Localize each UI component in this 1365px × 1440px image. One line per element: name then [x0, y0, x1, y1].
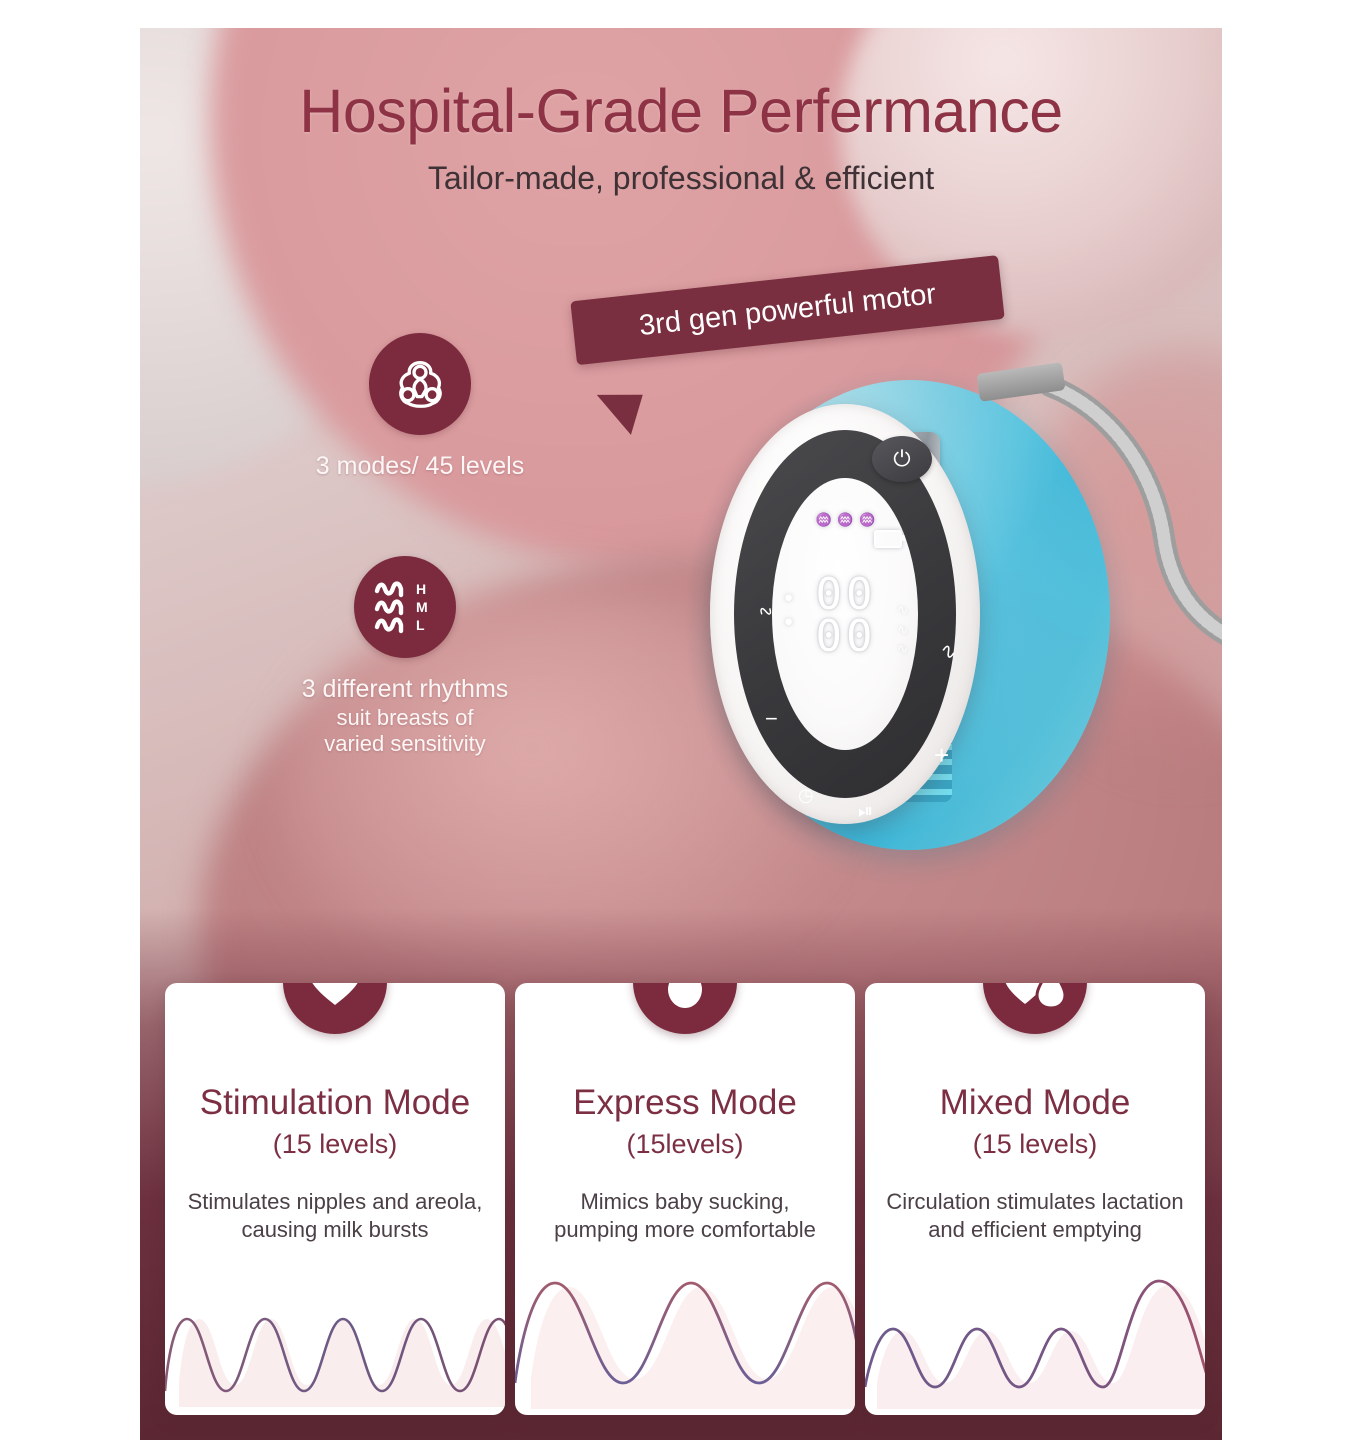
level-h-label: H	[416, 581, 426, 597]
mode-right-button[interactable]: ∿	[937, 640, 960, 665]
power-button[interactable]: ⏻	[872, 436, 932, 482]
card-levels: (15 levels)	[165, 1129, 505, 1160]
droplet-icon	[664, 983, 706, 1010]
lcd-top-indicators: ♒ ♒ ♒	[788, 512, 904, 528]
card-levels: (15 levels)	[865, 1129, 1205, 1160]
heart-icon	[307, 983, 363, 1008]
level-l-label: L	[416, 617, 425, 633]
device-cable	[958, 368, 1222, 688]
droplet-badge	[633, 983, 737, 1034]
heart-badge	[283, 983, 387, 1034]
heart-droplet-icon	[1002, 983, 1068, 1010]
lcd-screen: ♒ ♒ ♒ ●● 00 00 ∿∿∿ momcozy	[772, 478, 918, 750]
battery-icon	[874, 530, 902, 548]
mode-cards: Stimulation Mode (15 levels) Stimulates …	[165, 983, 1205, 1415]
waveform-slow-large	[515, 1265, 855, 1415]
brand-label: momcozy	[772, 746, 918, 750]
mode-card-express[interactable]: Express Mode (15levels) Mimics baby suck…	[515, 983, 855, 1415]
mode-card-mixed[interactable]: Mixed Mode (15 levels) Circulation stimu…	[865, 983, 1205, 1415]
rhythm-levels-icon: H M L	[369, 575, 441, 639]
mode-card-stimulation[interactable]: Stimulation Mode (15 levels) Stimulates …	[165, 983, 505, 1415]
waveform-mixed	[865, 1265, 1205, 1415]
feature-three-rhythms: H M L 3 different rhythms suit breasts o…	[260, 556, 550, 757]
header: Hospital-Grade Perfermance Tailor-made, …	[140, 28, 1222, 197]
feature-sub-line-2: varied sensitivity	[260, 731, 550, 757]
play-pause-button[interactable]: ⏯	[858, 802, 873, 821]
product-feature-poster: Hospital-Grade Perfermance Tailor-made, …	[140, 28, 1222, 1440]
feature-label: 3 modes/ 45 levels	[275, 452, 565, 482]
lcd-drop-indicators: ●●	[784, 586, 793, 634]
card-description: Circulation stimulates lactation and eff…	[883, 1188, 1187, 1244]
control-ring: ⏻ ∿ ∿ − + ◷ ⏯ ♒ ♒ ♒ ●● 00 00 ∿∿∿ momcozy	[734, 430, 956, 798]
rhythm-levels-badge: H M L	[354, 556, 456, 658]
card-desc-line-2: causing milk bursts	[241, 1217, 428, 1242]
feature-three-modes: 3 modes/ 45 levels	[275, 333, 565, 482]
lcd-wave-indicators: ∿∿∿	[897, 600, 908, 659]
card-title: Stimulation Mode	[165, 1083, 505, 1123]
page-title: Hospital-Grade Perfermance	[140, 28, 1222, 146]
product-device: ⏻ ∿ ∿ − + ◷ ⏯ ♒ ♒ ♒ ●● 00 00 ∿∿∿ momcozy	[580, 358, 1200, 888]
plus-button[interactable]: +	[934, 742, 949, 768]
card-levels: (15levels)	[515, 1129, 855, 1160]
lcd-digits-line-2: 00	[816, 611, 877, 662]
level-m-label: M	[416, 599, 428, 615]
callout-pointer	[597, 395, 643, 435]
card-description: Mimics baby sucking, pumping more comfor…	[533, 1188, 837, 1244]
card-description: Stimulates nipples and areola, causing m…	[183, 1188, 487, 1244]
cable-cord	[958, 368, 1222, 688]
device-control-panel: ⏻ ∿ ∿ − + ◷ ⏯ ♒ ♒ ♒ ●● 00 00 ∿∿∿ momcozy	[710, 404, 980, 824]
card-desc-line-2: pumping more comfortable	[554, 1217, 816, 1242]
feature-label: 3 different rhythms	[260, 675, 550, 705]
card-desc-line-1: Mimics baby sucking,	[580, 1189, 789, 1214]
three-modes-badge	[369, 333, 471, 435]
waveform-fast-uniform	[165, 1265, 505, 1415]
lcd-digits: 00 00	[798, 574, 894, 658]
timer-button[interactable]: ◷	[798, 786, 814, 804]
card-desc-line-1: Circulation stimulates lactation	[886, 1189, 1183, 1214]
heart-droplet-badge	[983, 983, 1087, 1034]
card-desc-line-2: and efficient emptying	[928, 1217, 1142, 1242]
card-desc-line-1: Stimulates nipples and areola,	[188, 1189, 483, 1214]
three-modes-icon	[389, 353, 451, 415]
card-title: Mixed Mode	[865, 1083, 1205, 1123]
page-subtitle: Tailor-made, professional & efficient	[140, 160, 1222, 197]
feature-sub-line-1: suit breasts of	[260, 705, 550, 731]
card-title: Express Mode	[515, 1083, 855, 1123]
minus-button[interactable]: −	[765, 708, 778, 730]
